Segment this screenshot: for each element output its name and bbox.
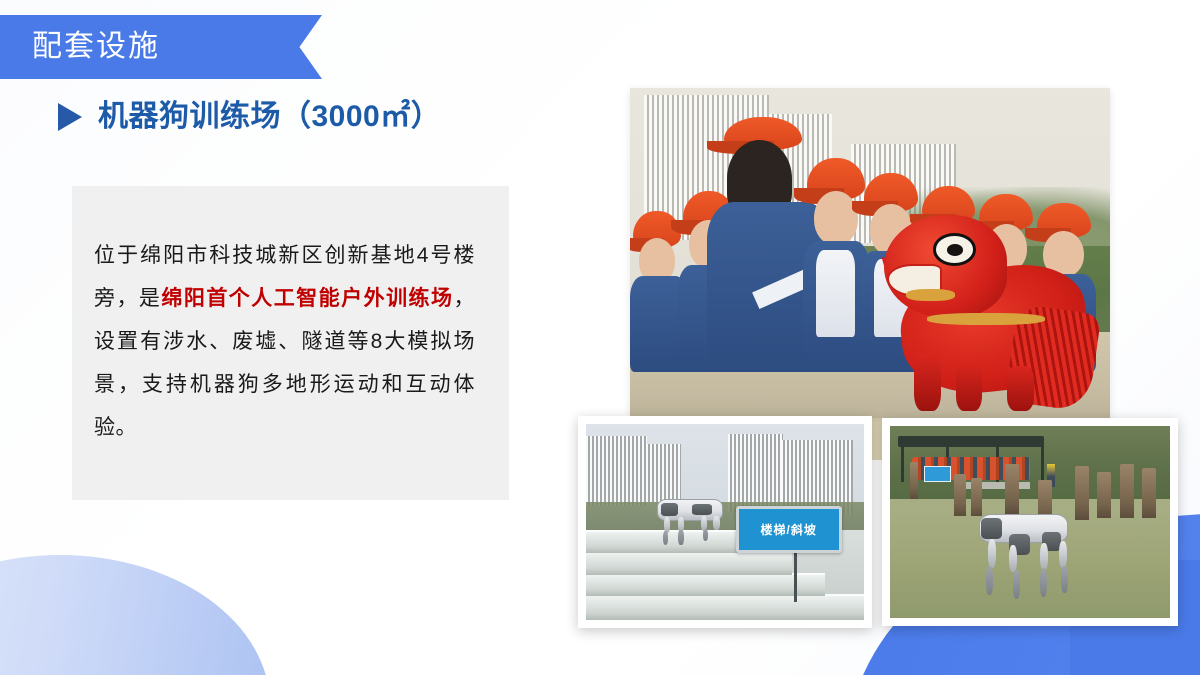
robot-dog-lower-leg	[663, 531, 668, 545]
photo-robot-dog-stairs: 楼梯/斜坡	[578, 416, 872, 628]
robot-dog-leg	[988, 539, 996, 568]
wooden-post	[1142, 468, 1156, 518]
lion-gold-trim	[927, 313, 1045, 325]
robot-dog-hip	[692, 504, 712, 515]
photo-robot-dog-field-content	[890, 426, 1170, 618]
left-content-column: 机器狗训练场（3000㎡） 位于绵阳市科技城新区创新基地4号楼旁，是绵阳首个人工…	[0, 100, 560, 151]
stair-step	[586, 551, 792, 575]
section-heading: 机器狗训练场（3000㎡）	[0, 100, 560, 133]
robot-dog-lower-leg	[1013, 570, 1020, 599]
stair-step	[586, 594, 864, 620]
photo-students-lion-dance-content	[630, 88, 1110, 418]
wooden-post	[1120, 464, 1134, 518]
robot-dog-lower-leg	[1061, 566, 1068, 593]
section-title-text: 机器狗训练场（3000㎡）	[98, 100, 441, 133]
robot-dog-head	[981, 518, 1002, 539]
robot-dog	[653, 495, 731, 546]
field-sign	[924, 466, 951, 481]
robot-dog-lower-leg	[678, 530, 683, 545]
sign-post	[794, 547, 797, 602]
lion-leg	[1007, 366, 1034, 411]
background-building-left	[586, 436, 647, 507]
student-head	[814, 191, 858, 245]
lion-dance-costume	[884, 207, 1095, 412]
stone-bench	[957, 482, 1030, 490]
photo-students-lion-dance	[630, 88, 1110, 418]
robot-dog-head	[661, 503, 678, 516]
lion-eye	[933, 233, 976, 266]
triangle-right-icon	[58, 103, 82, 131]
background-building-right	[728, 434, 784, 512]
stairs-ramp-sign: 楼梯/斜坡	[736, 506, 842, 553]
slide-root: 配套设施 机器狗训练场（3000㎡） 位于绵阳市科技城新区创新基地4号楼旁，是绵…	[0, 0, 1200, 675]
robot-dog-leg	[1059, 541, 1067, 568]
robot-dog	[974, 510, 1092, 606]
canopy-post	[1041, 443, 1044, 481]
wooden-post	[910, 462, 918, 498]
wooden-post	[1097, 472, 1111, 518]
lion-leg	[914, 354, 941, 411]
lion-head	[884, 215, 1006, 317]
robot-dog-leg	[1040, 543, 1048, 570]
description-highlight: 绵阳首个人工智能户外训练场	[161, 287, 453, 310]
student-shirt	[816, 250, 855, 337]
page-title: 配套设施	[0, 32, 160, 62]
description-panel: 位于绵阳市科技城新区创新基地4号楼旁，是绵阳首个人工智能户外训练场，设置有涉水、…	[72, 186, 509, 500]
photo-robot-dog-stairs-content: 楼梯/斜坡	[586, 424, 864, 620]
robot-dog-lower-leg	[703, 529, 708, 541]
stair-step	[586, 573, 825, 597]
stairs-ramp-sign-label: 楼梯/斜坡	[761, 521, 817, 538]
decor-bottom-left-blob	[0, 555, 270, 675]
description-text: 位于绵阳市科技城新区创新基地4号楼旁，是绵阳首个人工智能户外训练场，设置有涉水、…	[94, 234, 475, 449]
wooden-post	[1005, 464, 1019, 514]
robot-dog-lower-leg	[1040, 568, 1047, 597]
photo-robot-dog-field	[882, 418, 1178, 626]
lion-gold-trim	[906, 289, 955, 301]
robot-dog-lower-leg	[986, 566, 993, 595]
canopy-roof	[898, 436, 1044, 448]
lion-leg	[956, 362, 981, 411]
robot-dog-leg	[713, 516, 719, 530]
header-ribbon: 配套设施	[0, 15, 322, 79]
wooden-post	[954, 474, 965, 516]
robot-dog-leg	[1009, 545, 1017, 572]
canopy-post	[901, 443, 904, 481]
